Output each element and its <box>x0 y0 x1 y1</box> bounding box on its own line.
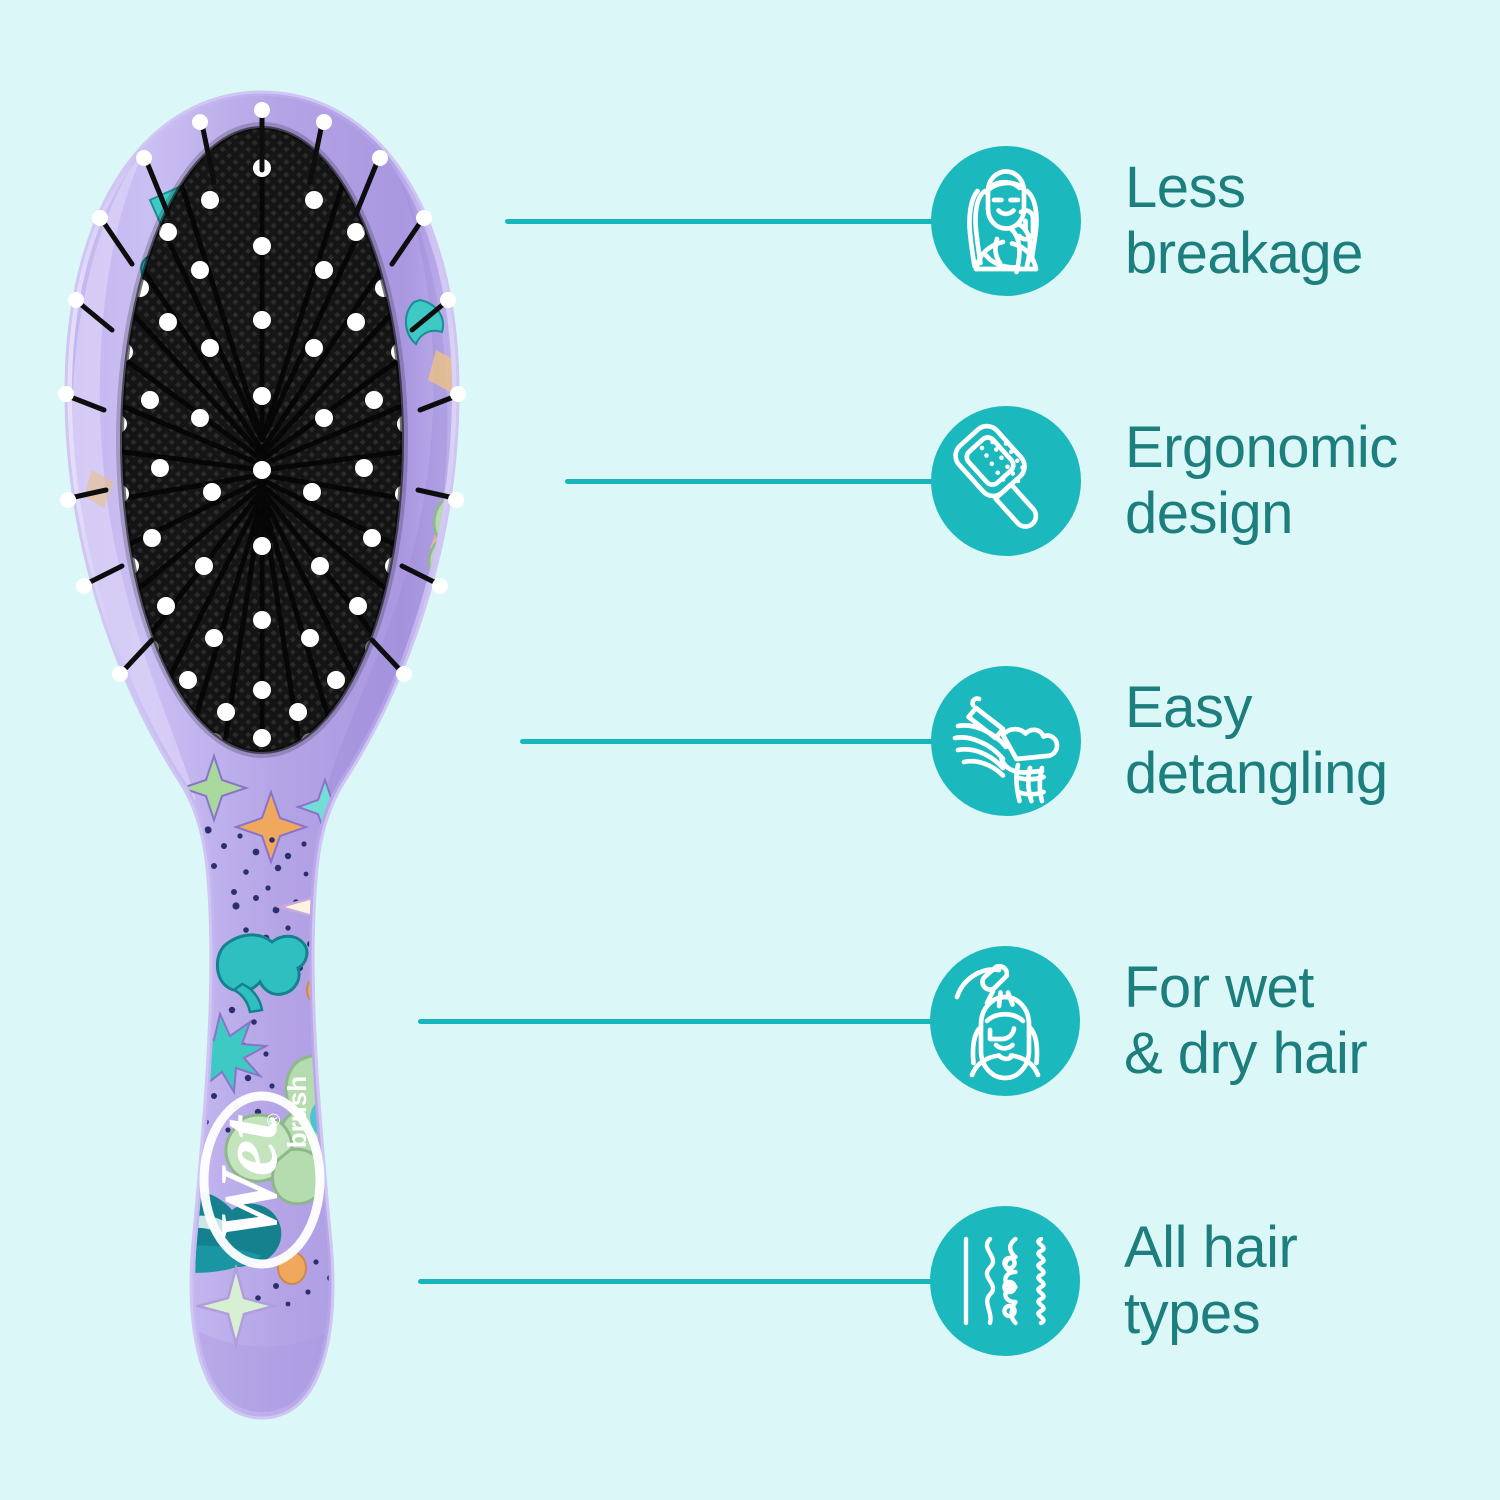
feature-wet-dry-hair: For wet & dry hair <box>418 946 1367 1096</box>
feature-easy-detangling: Easy detangling <box>520 666 1388 816</box>
icon-bubble-easy-detangling <box>931 666 1081 816</box>
woman-brushing-hair-icon <box>931 146 1081 296</box>
feature-label-ergonomic-design: Ergonomic design <box>1125 415 1398 546</box>
logo-trademark: ® <box>264 1113 284 1126</box>
hair-texture-types-icon <box>930 1206 1080 1356</box>
connector-line-2 <box>565 479 935 484</box>
logo-wordmark: Wet <box>203 1115 294 1243</box>
feature-all-hair-types: All hair types <box>418 1206 1297 1356</box>
logo-subword: brush <box>282 1076 312 1148</box>
feature-less-breakage: Less breakage <box>505 146 1363 296</box>
feature-label-easy-detangling: Easy detangling <box>1125 675 1388 806</box>
feature-ergonomic-design: Ergonomic design <box>565 406 1398 556</box>
icon-bubble-wet-dry-hair <box>930 946 1080 1096</box>
connector-line-5 <box>418 1279 934 1284</box>
connector-line-1 <box>505 219 935 224</box>
connector-line-4 <box>418 1019 934 1024</box>
icon-bubble-less-breakage <box>931 146 1081 296</box>
feature-label-wet-dry-hair: For wet & dry hair <box>1124 955 1367 1086</box>
hand-detangling-hair-icon <box>931 666 1081 816</box>
shower-head-woman-icon <box>930 946 1080 1096</box>
connector-line-3 <box>520 739 935 744</box>
feature-label-all-hair-types: All hair types <box>1124 1215 1297 1346</box>
icon-bubble-ergonomic-design <box>931 406 1081 556</box>
feature-label-less-breakage: Less breakage <box>1125 155 1363 286</box>
paddle-brush-icon <box>931 406 1081 556</box>
icon-bubble-all-hair-types <box>930 1206 1080 1356</box>
infographic-canvas: Wet brush ® <box>0 0 1500 1500</box>
